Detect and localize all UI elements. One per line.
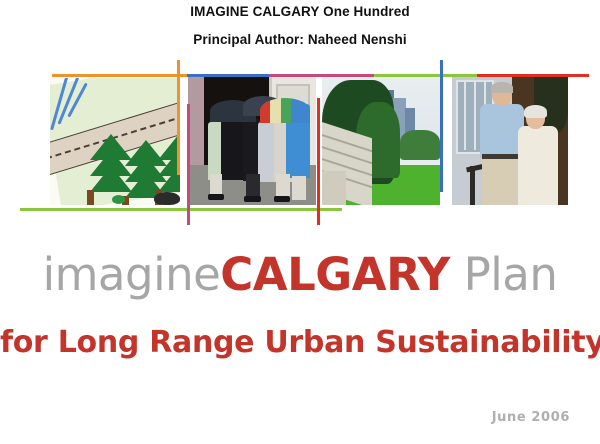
photo-woman-hair <box>524 105 547 118</box>
cover-subtitle: for Long Range Urban Sustainability <box>0 325 600 360</box>
photo-retaining-wall <box>322 171 346 205</box>
photo-woman-top <box>518 126 558 205</box>
document-header: IMAGINE CALGARY One Hundred Principal Au… <box>0 0 600 48</box>
cover-image-collage <box>0 60 600 225</box>
photo-railing-post <box>470 166 475 205</box>
accent-rule-vertical-red <box>317 98 320 225</box>
drawing-rock <box>154 192 180 205</box>
title-word-calgary: CALGARY <box>220 248 450 301</box>
photo-shoe <box>244 196 261 202</box>
collage-panel-people-umbrellas <box>188 74 316 205</box>
photo-umbrella-rainbow <box>260 98 310 123</box>
cover-title: imagineCALGARY Plan <box>0 252 600 297</box>
publication-date: June 2006 <box>492 410 570 425</box>
cover-page: IMAGINE CALGARY One Hundred Principal Au… <box>0 0 600 444</box>
photo-man-hair <box>491 82 513 93</box>
photo-shoe <box>274 196 290 202</box>
photo-shrub <box>400 130 440 160</box>
accent-rule-red <box>477 74 589 77</box>
collage-panel-urban-park <box>322 74 440 205</box>
title-word-imagine: imagine <box>43 248 221 301</box>
photo-person-legs <box>210 174 222 196</box>
photo-shoe <box>208 194 224 200</box>
accent-rule-orange <box>52 74 187 77</box>
collage-panel-childrens-drawing <box>50 78 180 205</box>
accent-rule-vertical-orange <box>177 60 180 175</box>
accent-rule-green-bottom <box>20 208 342 211</box>
accent-rule-green <box>374 74 477 77</box>
title-word-plan: Plan <box>450 248 558 301</box>
photo-man-trousers <box>482 156 522 205</box>
photo-person-legs <box>246 174 260 198</box>
author-line: Principal Author: Naheed Nenshi <box>0 33 600 48</box>
accent-rule-blue <box>187 74 269 77</box>
collage-panel-senior-couple <box>452 74 568 205</box>
accent-rule-vertical-blue <box>440 60 443 192</box>
accent-rule-magenta <box>269 74 374 77</box>
drawing-bush <box>112 195 125 204</box>
photo-person-legs <box>292 176 306 200</box>
accent-rule-vertical-magenta <box>187 104 190 225</box>
photo-person-legs <box>276 174 290 198</box>
program-title: IMAGINE CALGARY One Hundred <box>0 5 600 20</box>
photo-man-belt <box>482 154 522 159</box>
photo-person <box>221 114 245 180</box>
